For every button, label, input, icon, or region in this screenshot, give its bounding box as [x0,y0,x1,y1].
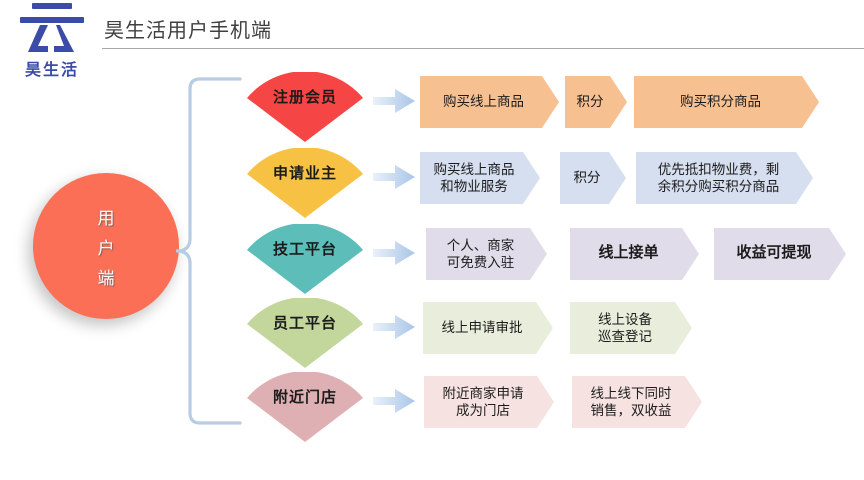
step-chevron-label: 收益可提现 [736,244,811,263]
step-chevron-label: 线上线下同时销售，双收益 [591,385,672,420]
step-chevron-technician-platform-1[interactable]: 个人、商家可免费入驻 [426,228,547,280]
step-chevron-label: 线上设备巡查登记 [598,311,652,346]
fan-label-nearby-store: 附近门店 [243,372,367,420]
brand-logo: 昊生活 [10,2,94,80]
page-title: 昊生活用户手机端 [104,14,272,43]
right-arrow-icon [371,162,417,192]
step-chevron-nearby-store-2[interactable]: 线上线下同时销售，双收益 [572,376,702,428]
cloud-glyph-icon [16,2,88,58]
step-chevron-register-member-3[interactable]: 购买积分商品 [634,76,819,128]
fan-shape-staff-platform[interactable]: 员工平台 [243,298,367,368]
step-chevron-apply-owner-2[interactable]: 积分 [560,152,626,204]
fan-shape-apply-owner[interactable]: 申请业主 [243,148,367,218]
step-chevron-register-member-1[interactable]: 购买线上商品 [420,76,559,128]
step-chevron-label: 购买线上商品和物业服务 [434,161,515,196]
fan-label-apply-owner: 申请业主 [243,148,367,196]
right-arrow-icon [371,86,417,116]
fan-shape-technician-platform[interactable]: 技工平台 [243,224,367,294]
step-chevron-staff-platform-2[interactable]: 线上设备巡查登记 [570,302,692,354]
flow-row-register-member: 注册会员购买线上商品积分购买积分商品 [0,72,864,148]
step-chevron-technician-platform-2[interactable]: 线上接单 [570,228,699,280]
step-chevron-apply-owner-1[interactable]: 购买线上商品和物业服务 [420,152,540,204]
step-chevron-label: 购买线上商品 [443,93,524,110]
step-chevron-technician-platform-3[interactable]: 收益可提现 [714,228,846,280]
header-divider [102,48,864,49]
step-chevron-nearby-store-1[interactable]: 附近商家申请成为门店 [424,376,554,428]
step-chevron-label: 购买积分商品 [680,93,761,110]
right-arrow-icon [371,238,417,268]
page-header: 昊生活 昊生活用户手机端 [0,0,864,58]
step-chevron-label: 优先抵扣物业费，剩余积分购买积分商品 [658,161,780,196]
step-chevron-label: 线上申请审批 [442,319,523,336]
fan-label-technician-platform: 技工平台 [243,224,367,272]
step-chevron-staff-platform-1[interactable]: 线上申请审批 [423,302,553,354]
right-arrow-icon [371,312,417,342]
step-chevron-label: 积分 [577,93,604,110]
step-chevron-label: 积分 [574,169,601,186]
flow-row-technician-platform: 技工平台个人、商家可免费入驻线上接单收益可提现 [0,224,864,300]
step-chevron-apply-owner-3[interactable]: 优先抵扣物业费，剩余积分购买积分商品 [636,152,813,204]
step-chevron-register-member-2[interactable]: 积分 [565,76,627,128]
fan-shape-nearby-store[interactable]: 附近门店 [243,372,367,442]
fan-label-staff-platform: 员工平台 [243,298,367,346]
step-chevron-label: 个人、商家可免费入驻 [447,237,515,272]
right-arrow-icon [371,386,417,416]
step-chevron-label: 线上接单 [598,244,658,263]
flow-row-apply-owner: 申请业主购买线上商品和物业服务积分优先抵扣物业费，剩余积分购买积分商品 [0,148,864,224]
flow-row-nearby-store: 附近门店附近商家申请成为门店线上线下同时销售，双收益 [0,372,864,448]
fan-shape-register-member[interactable]: 注册会员 [243,72,367,142]
fan-label-register-member: 注册会员 [243,72,367,120]
flow-row-staff-platform: 员工平台线上申请审批线上设备巡查登记 [0,298,864,374]
step-chevron-label: 附近商家申请成为门店 [443,385,524,420]
